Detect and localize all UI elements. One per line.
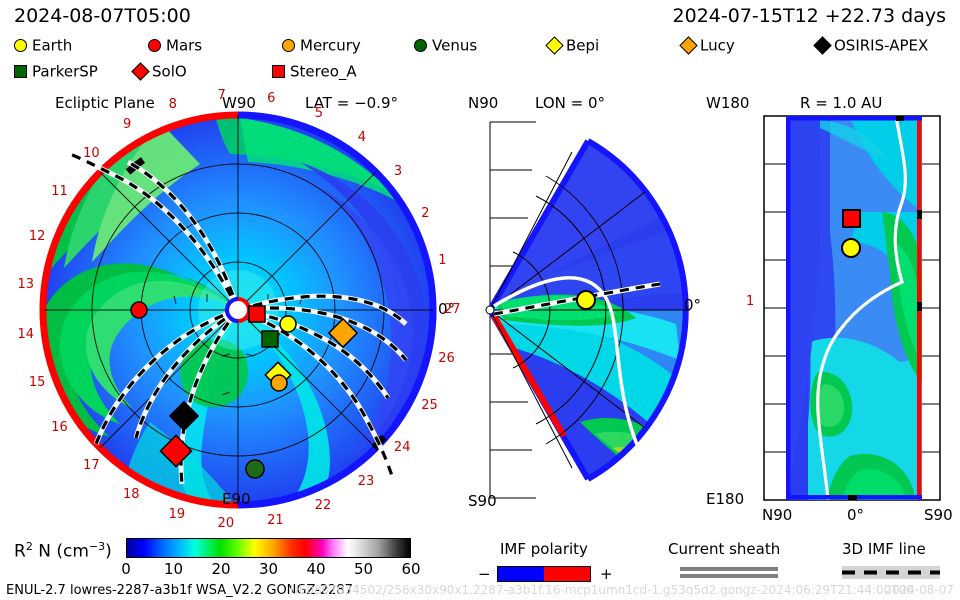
ecliptic-hour-label-19: 19 (169, 507, 186, 522)
colorbar-tick-10: 10 (164, 560, 183, 578)
carrington-plot-svg (700, 92, 960, 532)
legend-item-label: Lucy (700, 37, 735, 55)
imf-polarity-bar (497, 566, 591, 582)
ecliptic-hour-label-12: 12 (29, 229, 46, 244)
pipeline-watermark: UE0807034502/256x30x90x1.2287-a3b1f.16-m… (290, 583, 914, 597)
imf-polarity-plus: + (600, 565, 613, 583)
colorbar-tick-30: 30 (259, 560, 278, 578)
carrington-top-axis-label: W180 (706, 94, 749, 112)
current-sheath-line-top (680, 567, 778, 571)
ecliptic-hour-label-15: 15 (29, 375, 46, 390)
legend-item-label: Mercury (300, 37, 361, 55)
mercury-symbol-icon (282, 39, 295, 52)
imf-polarity-negative-swatch (498, 567, 544, 581)
legend-item-label: Mars (166, 37, 202, 55)
ecliptic-hour-label-20: 20 (218, 516, 235, 531)
meridional-top-axis-label: N90 (468, 94, 498, 112)
current-sheath-legend-title: Current sheath (668, 540, 780, 558)
imf-line-sample (842, 566, 940, 579)
current-timestamp: 2024-08-07T05:00 (14, 5, 191, 27)
colorbar-label-rest: N (cm (33, 542, 89, 562)
colorbar: R2 N (cm−3) 0102030405060 (0, 536, 470, 580)
carrington-x-label-s90: S90 (924, 506, 953, 524)
colorbar-tick-40: 40 (306, 560, 325, 578)
ecliptic-plane-panel: Ecliptic Plane LAT = −0.9° W90 E90 0° (0, 92, 470, 532)
ecliptic-hour-label-18: 18 (123, 487, 140, 502)
imf-line-legend-title: 3D IMF line (842, 540, 926, 558)
colorbar-gradient (126, 538, 411, 558)
ecliptic-hour-label-22: 22 (315, 498, 332, 513)
carrington-bottom-axis-label: E180 (706, 490, 744, 508)
meridional-panel-title: LON = 0° (535, 94, 605, 112)
legend-item-label: Stereo_A (290, 63, 357, 81)
colorbar-tick-60: 60 (401, 560, 420, 578)
legend-item-solo: SolO (134, 62, 187, 80)
ecliptic-hour-label-8: 8 (169, 97, 177, 112)
meridional-earth-marker (577, 291, 595, 309)
ecliptic-hour-label-11: 11 (51, 184, 68, 199)
legend-item-stereo-a: Stereo_A (272, 62, 357, 80)
mars-symbol-icon (148, 39, 161, 52)
ecliptic-top-axis-label: W90 (222, 94, 256, 112)
ecliptic-hour-label-14: 14 (17, 327, 34, 342)
colorbar-label-close: ) (105, 542, 112, 562)
legend-item-label: Earth (32, 37, 72, 55)
colorbar-tick-0: 0 (121, 560, 131, 578)
ecliptic-hour-label-23: 23 (358, 474, 375, 489)
legend-item-lucy: Lucy (682, 36, 735, 54)
footer-date: 2024-08-07 (884, 583, 954, 597)
legend-item-label: Venus (432, 37, 477, 55)
legend-item-mars: Mars (148, 36, 202, 54)
legend-item-earth: Earth (14, 36, 72, 54)
ecliptic-hour-label-4: 4 (358, 130, 366, 145)
legend-item-parkersp: ParkerSP (14, 62, 98, 80)
carrington-x-label-n90: N90 (762, 506, 792, 524)
venus-symbol-icon (414, 39, 427, 52)
ecliptic-hour-label-26: 26 (438, 351, 455, 366)
meridional-plot-svg (460, 92, 700, 532)
osiris-apex-symbol-icon (813, 36, 831, 54)
ecliptic-hour-label-24: 24 (394, 440, 411, 455)
legend-item-mercury: Mercury (282, 36, 361, 54)
ecliptic-hour-label-5: 5 (315, 106, 323, 121)
solo-symbol-icon (131, 62, 149, 80)
ecliptic-hour-label-3: 3 (394, 164, 402, 179)
colorbar-tick-labels: 0102030405060 (126, 558, 411, 578)
parkersp-symbol-icon (14, 65, 27, 78)
ecliptic-hour-label-21: 21 (267, 513, 284, 528)
legend-item-label: SolO (152, 63, 187, 81)
body-legend: EarthMarsMercuryVenusBepiLucyOSIRIS-APEX… (0, 36, 960, 86)
imf-polarity-minus: − (478, 565, 491, 583)
colorbar-tick-20: 20 (211, 560, 230, 578)
earth-symbol-icon (14, 39, 27, 52)
current-sheath-line-bottom (680, 574, 778, 578)
ecliptic-hour-label-13: 13 (17, 277, 34, 292)
visualization-page: 2024-08-07T05:00 2024-07-15T12 +22.73 da… (0, 0, 960, 600)
legend-item-bepi: Bepi (548, 36, 599, 54)
ecliptic-hour-label-17: 17 (83, 458, 100, 473)
carrington-earth-marker (842, 239, 860, 257)
ecliptic-plot-svg (0, 92, 470, 532)
legend-item-venus: Venus (414, 36, 477, 54)
ecliptic-hour-label-25: 25 (421, 398, 438, 413)
colorbar-label-unit-exp: −3 (89, 540, 105, 553)
lucy-symbol-icon (679, 36, 697, 54)
ecliptic-hour-label-7: 7 (218, 88, 226, 103)
ecliptic-hour-label-2: 2 (421, 206, 429, 221)
colorbar-label: R2 N (cm−3) (14, 540, 112, 562)
colorbar-label-r: R (14, 542, 26, 562)
colorbar-tick-50: 50 (354, 560, 373, 578)
legend-item-osiris-apex: OSIRIS-APEX (816, 36, 928, 54)
meridional-bottom-axis-label: S90 (468, 492, 497, 510)
carrington-x-label-0: 0° (847, 506, 864, 524)
meridional-panel: LON = 0° N90 S90 0° (460, 92, 700, 532)
legend-item-label: OSIRIS-APEX (834, 37, 928, 55)
colorbar-label-exp: 2 (26, 540, 33, 553)
ecliptic-hour-label-9: 9 (123, 117, 131, 132)
carrington-left-tick-label: 1 (746, 294, 754, 309)
ecliptic-hour-label-27: 27 (444, 302, 461, 317)
ecliptic-bottom-axis-label: E90 (222, 490, 251, 508)
legend-item-label: ParkerSP (32, 63, 98, 81)
imf-polarity-positive-swatch (544, 567, 590, 581)
ecliptic-hour-label-10: 10 (83, 146, 100, 161)
carrington-stereoa-marker (843, 210, 860, 227)
carrington-panel: R = 1.0 AU W180 E180 1 N90 0° S90 (700, 92, 960, 532)
bepi-symbol-icon (545, 36, 563, 54)
carrington-panel-title: R = 1.0 AU (800, 94, 882, 112)
stereo-a-symbol-icon (272, 65, 285, 78)
meridional-right-axis-label: 0° (684, 296, 701, 314)
run-start-offset: 2024-07-15T12 +22.73 days (673, 5, 946, 27)
legend-item-label: Bepi (566, 37, 599, 55)
ecliptic-panel-title: Ecliptic Plane (55, 94, 155, 112)
ecliptic-hour-label-1: 1 (438, 253, 446, 268)
ecliptic-hour-label-6: 6 (267, 91, 275, 106)
imf-polarity-legend-title: IMF polarity (500, 540, 588, 558)
ecliptic-hour-label-16: 16 (51, 420, 68, 435)
